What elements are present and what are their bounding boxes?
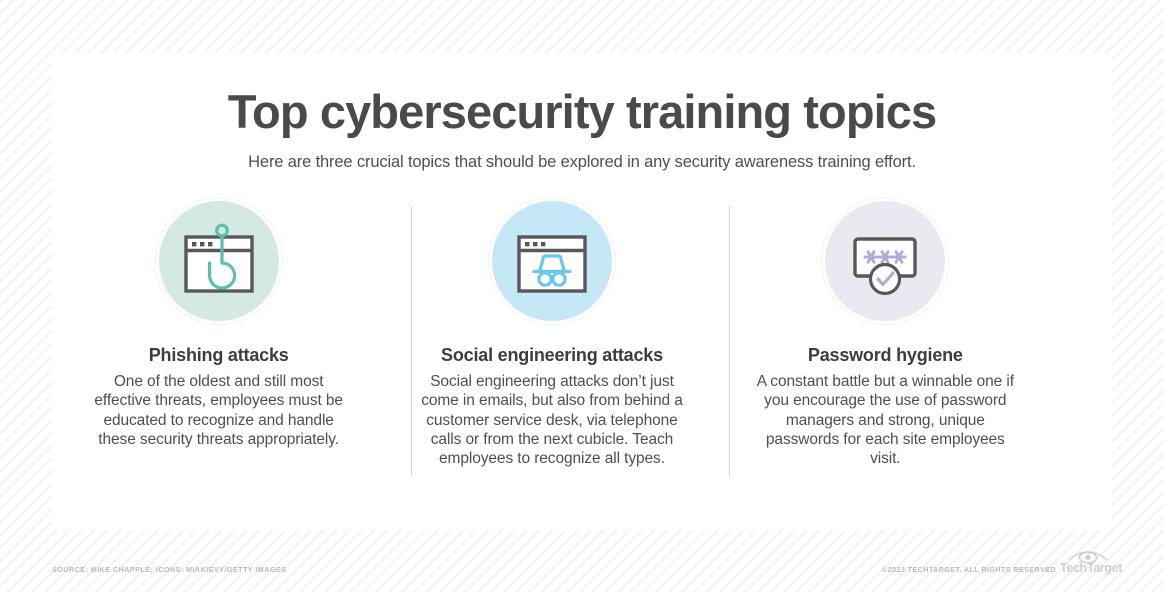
topic-body-password-hygiene: A constant battle but a winnable one if …	[754, 372, 1016, 468]
phishing-icon-circle	[159, 201, 279, 321]
password-icon-ring	[821, 197, 949, 325]
techtarget-logo-text: TechTarget	[1060, 562, 1116, 575]
source-credit: SOURCE: MIKE CHAPPLE; ICONS: MIAKIEVY/GE…	[52, 565, 286, 574]
topic-column-social-engineering: Social engineering attacks Social engine…	[385, 201, 718, 468]
copyright-notice: ©2023 TECHTARGET. ALL RIGHTS RESERVED	[882, 565, 1056, 574]
infographic-card: Top cybersecurity training topics Here a…	[52, 53, 1112, 530]
topic-body-phishing: One of the oldest and still most effecti…	[88, 372, 350, 449]
topic-heading-password-hygiene: Password hygiene	[808, 345, 963, 366]
infographic-background: Top cybersecurity training topics Here a…	[0, 0, 1164, 592]
password-icon-circle	[825, 201, 945, 321]
topic-heading-phishing: Phishing attacks	[149, 345, 289, 366]
social-engineering-icon-circle	[492, 201, 612, 321]
social-engineering-icon-ring	[488, 197, 616, 325]
page-subtitle: Here are three crucial topics that shoul…	[52, 151, 1112, 173]
topic-column-password-hygiene: Password hygiene A constant battle but a…	[719, 201, 1052, 468]
topic-body-social-engineering: Social engineering attacks don’t just co…	[416, 372, 688, 468]
topic-heading-social-engineering: Social engineering attacks	[441, 345, 663, 366]
phishing-icon-ring	[155, 197, 283, 325]
topics-row: Phishing attacks One of the oldest and s…	[52, 201, 1112, 468]
topic-column-phishing: Phishing attacks One of the oldest and s…	[52, 201, 385, 449]
page-title: Top cybersecurity training topics	[52, 86, 1112, 138]
techtarget-logo: TechTarget	[1060, 546, 1116, 580]
